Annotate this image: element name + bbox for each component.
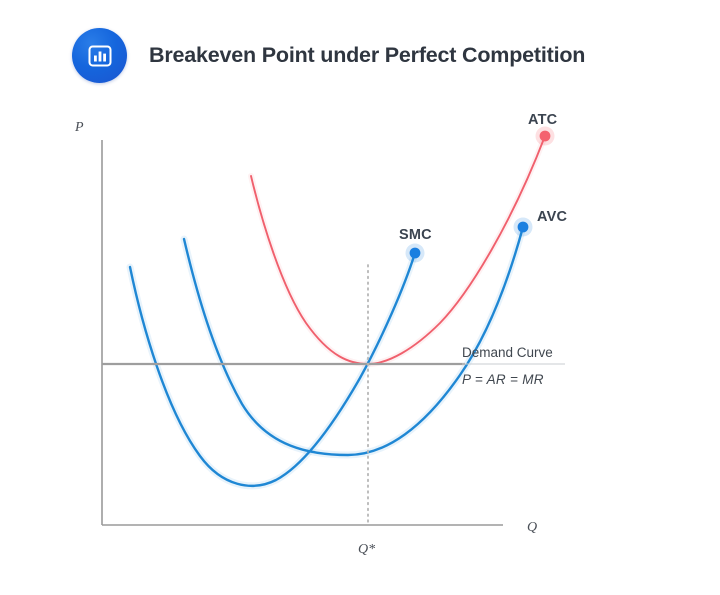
- atc-endpoint-dot: [540, 131, 551, 142]
- atc-curve: [251, 136, 545, 364]
- chart-page: Breakeven Point under Perfect Competitio…: [0, 0, 720, 595]
- avc-label: AVC: [537, 209, 567, 225]
- avc-curve-glow: [184, 227, 523, 455]
- economics-chart: P Q SMC AVC ATC: [0, 0, 720, 595]
- q-star-label: Q*: [358, 542, 375, 557]
- avc-endpoint-dot: [518, 222, 529, 233]
- demand-curve-label: Demand Curve: [462, 345, 553, 360]
- x-axis-label: Q: [527, 520, 537, 535]
- y-axis-label: P: [74, 120, 84, 135]
- atc-label: ATC: [528, 112, 558, 128]
- atc-curve-glow: [251, 136, 545, 364]
- demand-curve-formula: P = AR = MR: [462, 372, 544, 387]
- smc-label: SMC: [399, 227, 432, 243]
- avc-curve: [184, 227, 523, 455]
- smc-endpoint-dot: [410, 248, 421, 259]
- chart-svg: P Q SMC AVC ATC: [0, 0, 720, 595]
